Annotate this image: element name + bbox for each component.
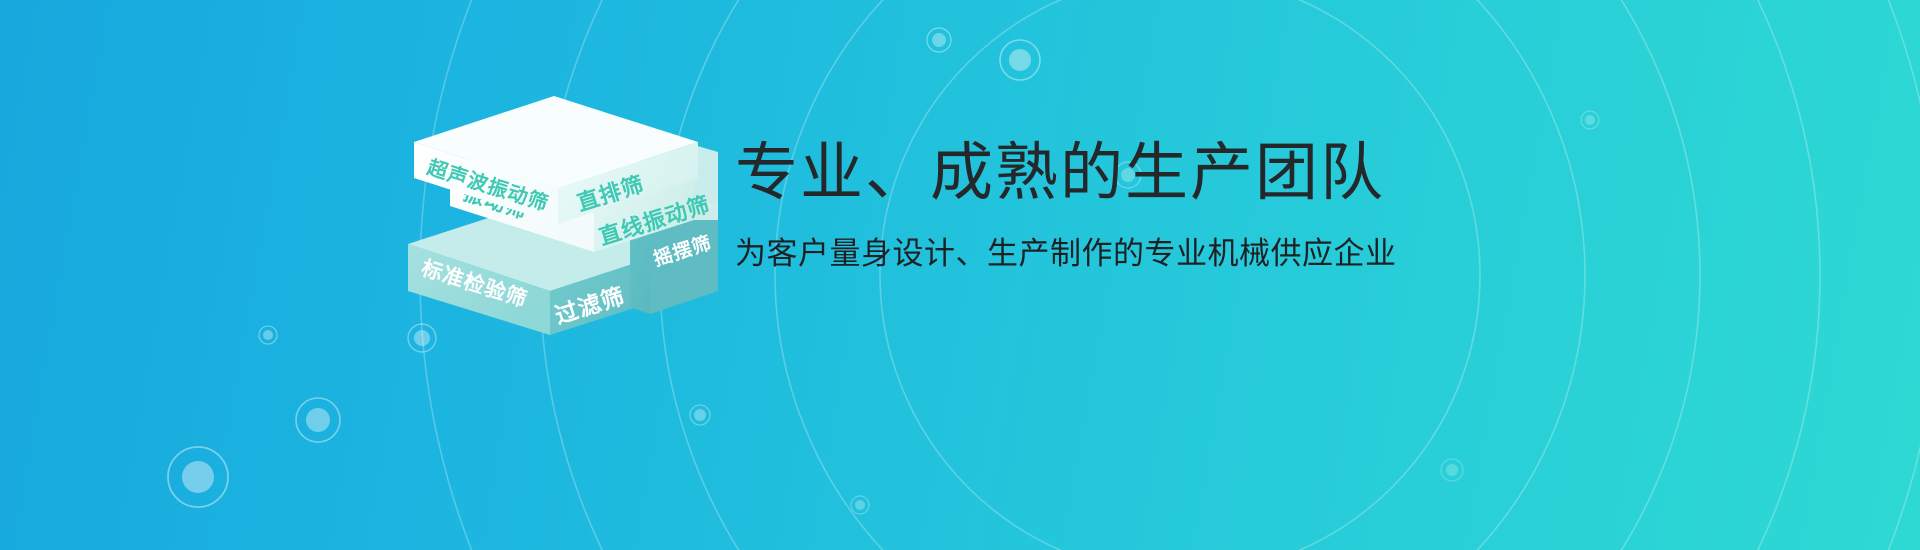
decor-arc [660, 0, 1700, 550]
decor-node [690, 405, 710, 425]
decor-node [1000, 40, 1040, 80]
decor-arc [880, 0, 1480, 550]
decor-node [296, 398, 340, 442]
decor-node [259, 326, 277, 344]
decor-node [1581, 111, 1599, 129]
decor-arc [540, 0, 1820, 550]
page-subtitle: 为客户量身设计、生产制作的专业机械供应企业 [735, 235, 1435, 272]
background-decoration [0, 0, 1920, 550]
decor-node [1441, 459, 1463, 481]
hero-banner: 标准检验筛 过滤筛 摇摆筛 振动筛 直线振动筛 [0, 0, 1920, 550]
decor-node [927, 28, 951, 52]
decor-node [168, 447, 228, 507]
page-title: 专业、成熟的生产团队 [735, 140, 1435, 207]
decor-arc [775, 0, 1585, 550]
stacked-sieve-cube-illustration: 标准检验筛 过滤筛 摇摆筛 振动筛 直线振动筛 [398, 48, 718, 338]
banner-text-block: 专业、成熟的生产团队 为客户量身设计、生产制作的专业机械供应企业 [735, 140, 1435, 272]
decor-node [851, 496, 869, 514]
